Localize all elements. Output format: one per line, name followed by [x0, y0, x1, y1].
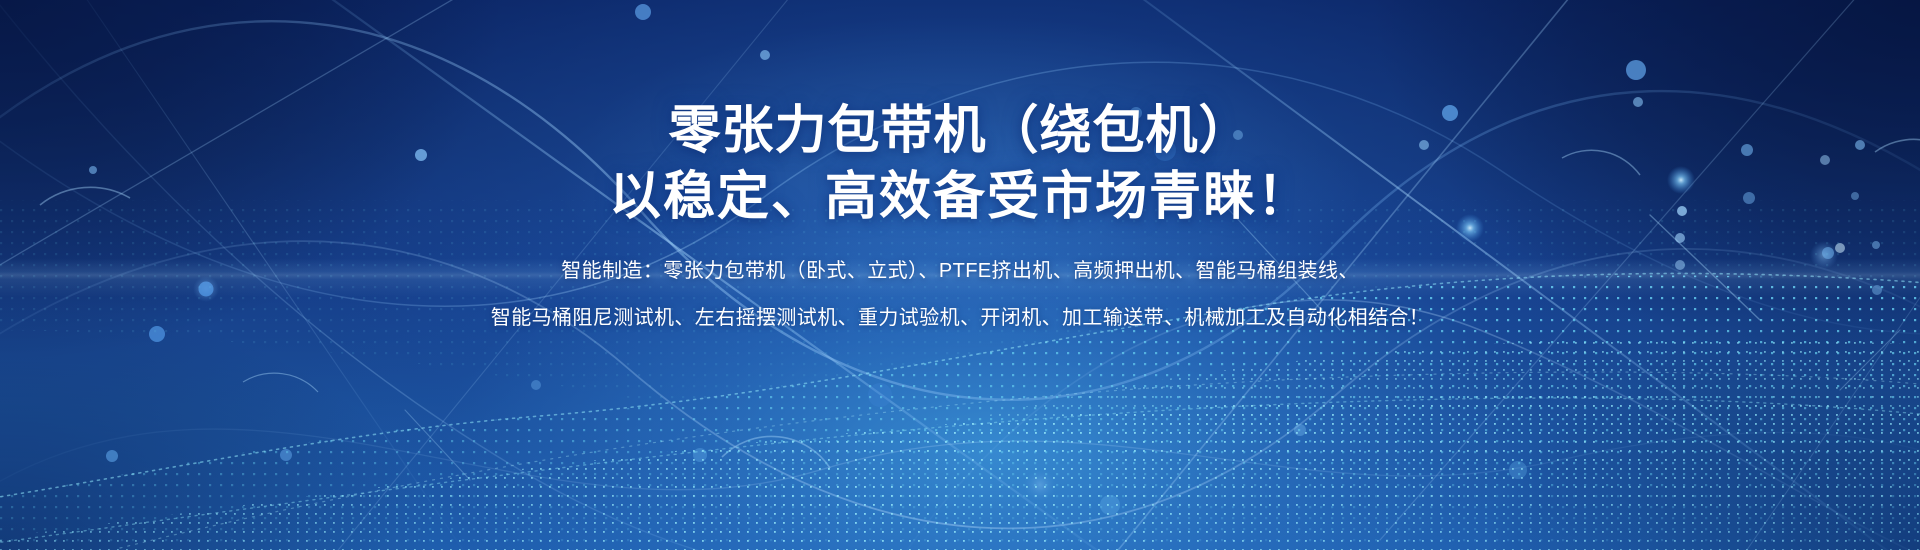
- banner-content: 零张力包带机（绕包机） 以稳定、高效备受市场青睐！ 智能制造：零张力包带机（卧式…: [0, 0, 1920, 550]
- hero-banner: 零张力包带机（绕包机） 以稳定、高效备受市场青睐！ 智能制造：零张力包带机（卧式…: [0, 0, 1920, 550]
- banner-title-line-1: 零张力包带机（绕包机）: [668, 101, 1251, 161]
- banner-title-line-2: 以稳定、高效备受市场青睐！: [609, 167, 1311, 227]
- banner-description-line-1: 智能制造：零张力包带机（卧式、立式）、PTFE挤出机、高频押出机、智能马桶组装线…: [561, 257, 1359, 285]
- banner-description-line-2: 智能马桶阻尼测试机、左右摇摆测试机、重力试验机、开闭机、加工输送带、机械加工及自…: [491, 304, 1429, 332]
